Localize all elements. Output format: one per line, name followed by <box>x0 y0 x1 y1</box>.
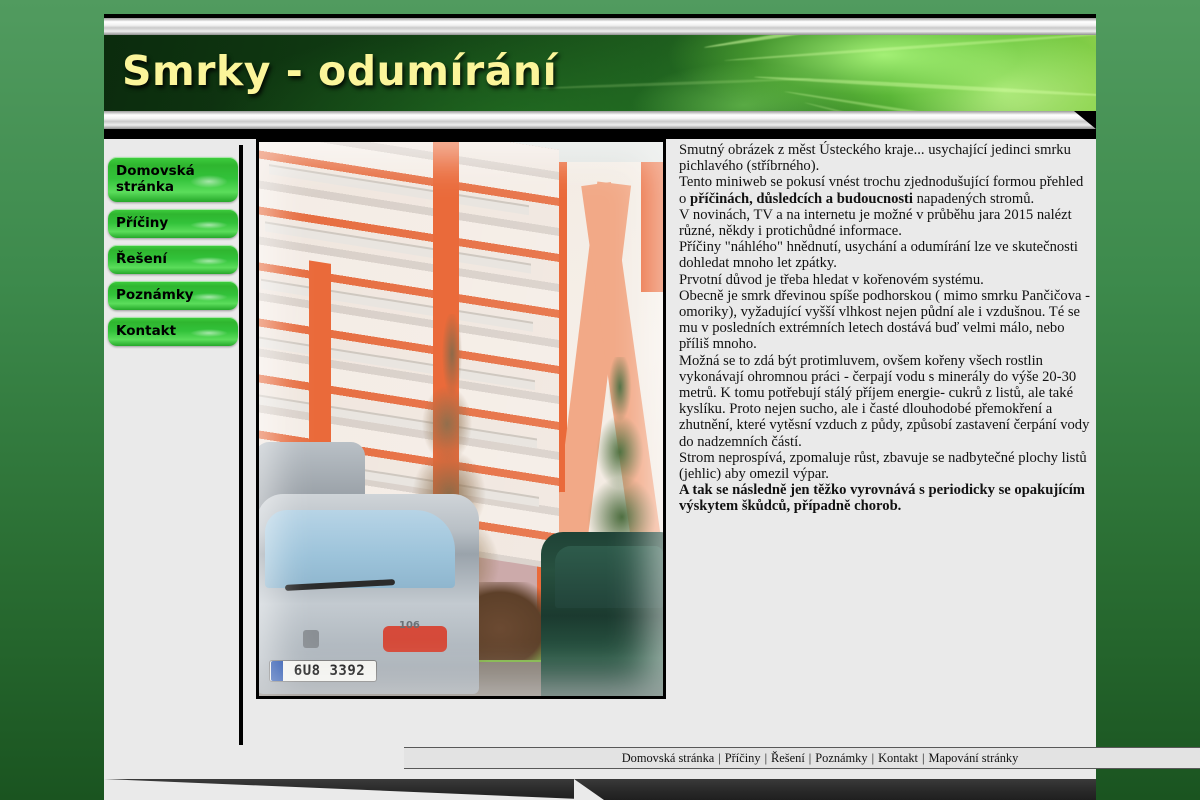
article-photo: 106 6U8 3392 <box>259 142 663 696</box>
footer-nav: Domovská stránka | Příčiny | Řešení | Po… <box>404 747 1200 769</box>
footer-link-reseni[interactable]: Řešení <box>771 751 805 766</box>
chrome-bar-bottom <box>104 111 1096 129</box>
footer-strip-notch <box>574 779 604 800</box>
article-photo-frame: 106 6U8 3392 <box>256 139 666 699</box>
footer-separator: | <box>872 751 874 766</box>
footer-separator: | <box>922 751 924 766</box>
sidebar-item-poznamky[interactable]: Poznámky <box>108 281 238 310</box>
photo-vignette <box>259 142 663 696</box>
footer-area: Domovská stránka | Příčiny | Řešení | Po… <box>404 739 1200 779</box>
footer-separator: | <box>809 751 811 766</box>
footer-bottom-strip <box>104 779 1096 800</box>
sidebar-item-label: Řešení <box>116 251 167 267</box>
article-paragraph: Strom neprospívá, zpomaluje růst, zbavuj… <box>679 450 1091 482</box>
footer-separator: | <box>765 751 767 766</box>
footer-link-domovska-stranka[interactable]: Domovská stránka <box>622 751 715 766</box>
content-area: 106 6U8 3392 Smutný obrázek z měst Ústec… <box>254 139 1094 739</box>
article-paragraph: V novinách, TV a na internetu je možné v… <box>679 207 1091 239</box>
footer-link-kontakt[interactable]: Kontakt <box>878 751 918 766</box>
sidebar-item-label: Poznámky <box>116 287 194 303</box>
article-paragraph: Obecně je smrk dřevinou spíše podhorskou… <box>679 288 1091 353</box>
article-paragraph-bold: A tak se následně jen těžko vyrovnává s … <box>679 482 1091 514</box>
footer-separator: | <box>718 751 720 766</box>
sidebar-item-kontakt[interactable]: Kontakt <box>108 317 238 346</box>
page-title: Smrky - odumírání <box>122 36 722 106</box>
footer-link-poznamky[interactable]: Poznámky <box>815 751 867 766</box>
article-paragraph: Možná se to zdá být protimluvem, ovšem k… <box>679 353 1091 450</box>
page-body: Domovská stránka Příčiny Řešení Poznámky… <box>104 139 1096 779</box>
article-paragraph: Prvotní důvod je třeba hledat v kořenové… <box>679 272 1091 288</box>
footer-link-mapovani-stranky[interactable]: Mapování stránky <box>928 751 1018 766</box>
sidebar-item-reseni[interactable]: Řešení <box>108 245 238 274</box>
chrome-bar-top <box>104 18 1096 35</box>
footer-link-priciny[interactable]: Příčiny <box>725 751 761 766</box>
sidebar-item-domovska-stranka[interactable]: Domovská stránka <box>108 157 238 202</box>
sidebar-item-priciny[interactable]: Příčiny <box>108 209 238 238</box>
sidebar-item-label: Kontakt <box>116 323 176 339</box>
light-streak-icon <box>724 35 1096 62</box>
sidebar-nav: Domovská stránka Příčiny Řešení Poznámky… <box>108 157 240 353</box>
article-bold-run: příčinách, důsledcích a budoucnosti <box>690 191 913 207</box>
header-banner: Smrky - odumírání <box>104 14 1096 139</box>
site-container: Smrky - odumírání Domovská stránka Příči… <box>104 14 1096 800</box>
article-text: Smutný obrázek z měst Ústeckého kraje...… <box>679 142 1091 515</box>
sidebar-item-label: Domovská stránka <box>116 163 195 195</box>
article-paragraph: Smutný obrázek z měst Ústeckého kraje...… <box>679 142 1091 174</box>
article-paragraph: Příčiny "náhlého" hnědnutí, usychání a o… <box>679 239 1091 271</box>
article-text-run: napadených stromů. <box>913 191 1034 207</box>
sidebar-item-label: Příčiny <box>116 215 168 231</box>
article-paragraph: Tento miniweb se pokusí vnést trochu zje… <box>679 174 1091 206</box>
